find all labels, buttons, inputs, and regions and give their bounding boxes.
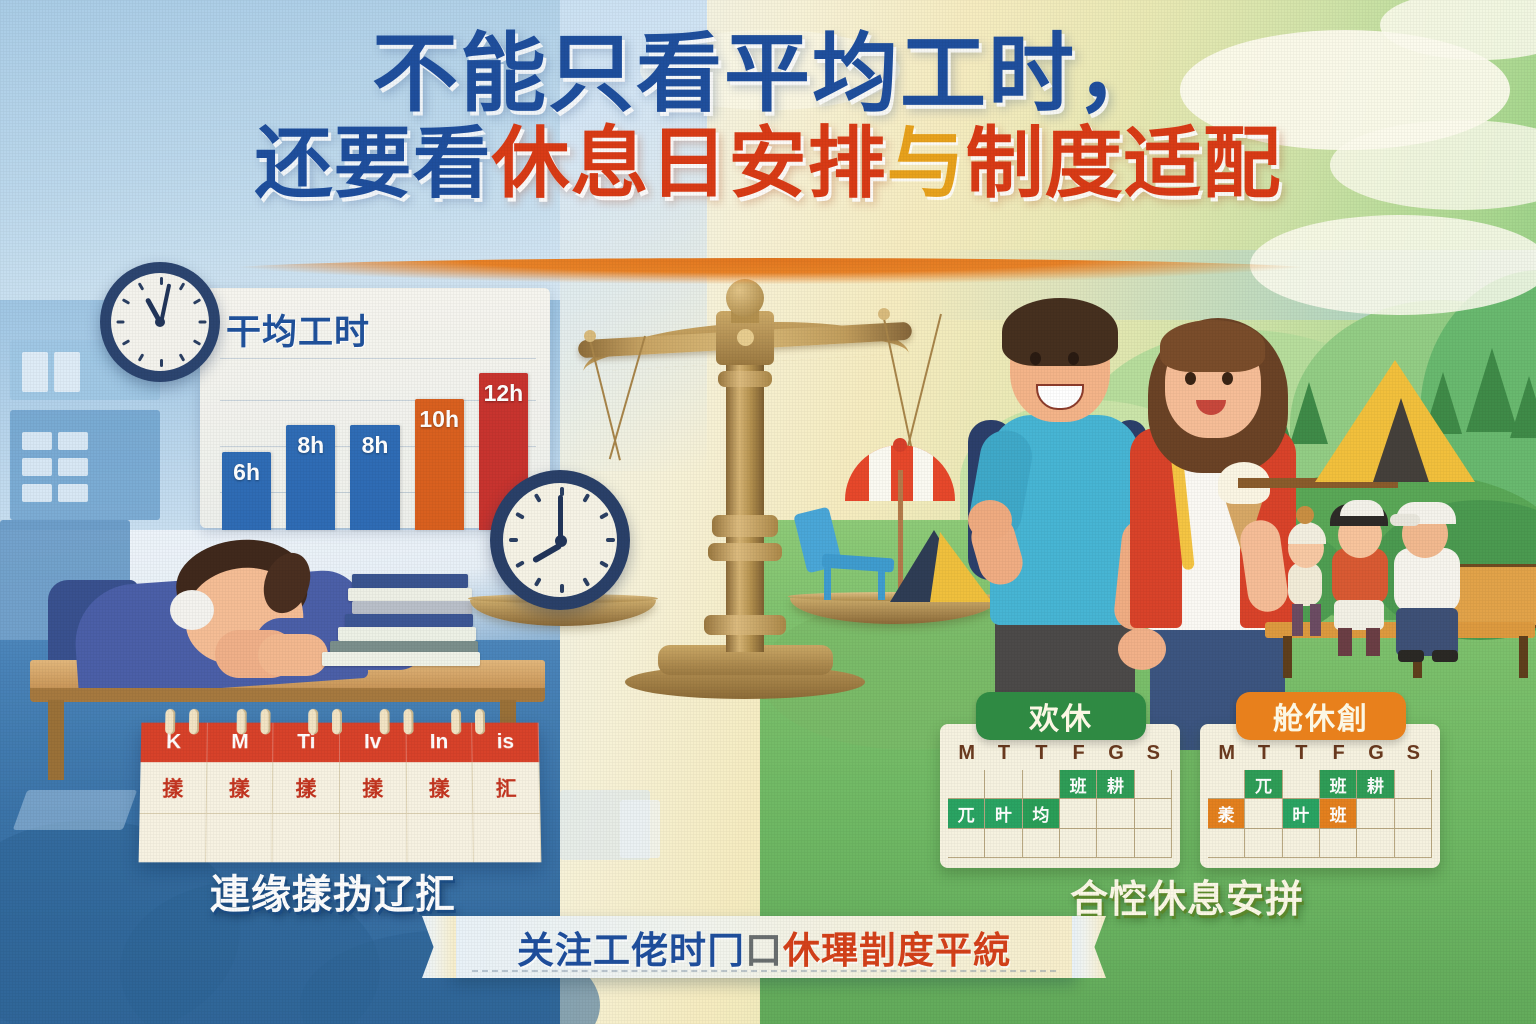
adult-shoe (1398, 650, 1424, 662)
desk-book (352, 601, 472, 614)
title-line2-red2: 制度适配 (966, 119, 1282, 207)
wall-clock (100, 262, 220, 382)
calendar-day-header: S (1135, 742, 1172, 765)
calendar-overtime-row: 㨾㨾㨾㨾㨾㧟 (140, 762, 541, 814)
man-eye (1030, 352, 1041, 365)
clock-tick (179, 282, 186, 290)
bottom-banner: 关注工佬时冂口休㻫剒度平綂 (452, 916, 1076, 978)
calendar-empty-cell (1395, 770, 1432, 799)
calendar-day-header: Ti (274, 723, 340, 763)
shelf-book (58, 432, 88, 450)
calendar-empty-cell (1320, 829, 1357, 858)
shelf-book (22, 352, 48, 392)
clock-tick (560, 584, 564, 593)
calendar-day-header: G (1357, 742, 1394, 765)
clock-tick (122, 339, 130, 346)
calendar-day-header: G (1097, 742, 1134, 765)
calendar-empty-cell (1097, 829, 1134, 858)
scale-finial (726, 279, 764, 317)
bottom-banner-text: 关注工佬时冂口休㻫剒度平綂 (452, 916, 1076, 978)
clock-center-pin (555, 535, 567, 547)
rest-schedule-calendar-1[interactable]: 欢休MTTFGS班耕兀旪均 (940, 698, 1180, 868)
child-shorts (1334, 600, 1384, 630)
calendar-empty-cell (948, 770, 985, 799)
clock-tick (606, 538, 615, 542)
calendar-empty-cell (1135, 799, 1172, 828)
title-line2-amber: 与 (887, 119, 966, 207)
calendar-rest-cell[interactable]: 旪 (1283, 799, 1320, 828)
adult-shoe (1432, 650, 1458, 662)
woman-hair-front (1160, 320, 1265, 372)
calendar-overtime-cell[interactable]: 㨾 (206, 762, 273, 814)
child-cap-crown (1340, 500, 1384, 516)
calendar-empty-cell (1023, 770, 1060, 799)
scale-hook (878, 308, 890, 320)
clock-tick (199, 321, 207, 324)
clock-tick (117, 321, 125, 324)
toddler-leg (1310, 604, 1321, 636)
clock-tick (534, 577, 542, 587)
calendar-overtime-cell[interactable]: 㧟 (473, 762, 541, 814)
clock-tick (515, 560, 525, 568)
calendar-empty-row (139, 814, 542, 862)
clock-tick (193, 298, 201, 305)
calendar-overtime-cell[interactable]: 㨾 (273, 762, 340, 814)
poster-title: 不能只看平均工时， 还要看休息日安排与制度适配 (0, 28, 1536, 207)
calendar-day-header: F (1060, 742, 1097, 765)
held-hands (1118, 628, 1166, 670)
title-line2-blue: 还要看 (254, 119, 491, 207)
calendar-empty-cell (1208, 770, 1245, 799)
chart-bar-label: 10h (415, 406, 464, 433)
calendar-empty-cell (1097, 799, 1134, 828)
rest-schedule-calendar-2[interactable]: 舱休創MTTFGS兀班耕羕旪班 (1200, 698, 1440, 868)
calendar-empty-cell (1135, 770, 1172, 799)
calendar-day-header: T (985, 742, 1022, 765)
shelf-book (58, 458, 88, 476)
woman-eye (1222, 372, 1233, 385)
chart-bars: 6h8h8h10h12h (222, 360, 528, 530)
clock-tick (122, 298, 130, 305)
scale-collar (712, 515, 778, 537)
calendar-tag-label: 欢休 (976, 692, 1146, 740)
chart-bar-label: 12h (479, 380, 528, 407)
calendar-rest-cell[interactable]: 耕 (1097, 770, 1134, 799)
clock-face (503, 483, 617, 597)
calendar-grid: 兀班耕羕旪班 (1208, 770, 1432, 858)
chart-gridline (220, 358, 536, 359)
shelf-book (22, 484, 52, 502)
man-fist (968, 500, 1012, 540)
calendar-tag-label: 舱休創 (1236, 692, 1406, 740)
chart-bar-label: 6h (222, 459, 271, 486)
clock-face (111, 273, 209, 371)
calendar-empty-cell (1245, 799, 1282, 828)
calendar-day-header: F (1320, 742, 1357, 765)
desk-book (345, 614, 473, 627)
banner-blue-part: 关注工佬时冂 (517, 920, 745, 974)
tired-worker-hand (258, 634, 328, 676)
adult-jeans (1396, 608, 1458, 656)
average-working-hours-chart: 干均工时 6h8h8h10h12h (210, 300, 540, 530)
scale-collar (718, 371, 772, 387)
scale-hook (584, 330, 596, 342)
calendar-empty-cell (1283, 770, 1320, 799)
clock-tick (160, 277, 163, 285)
calendar-empty-cell (1060, 799, 1097, 828)
chart-bar: 10h (415, 399, 464, 530)
left-caption: 連缘㨾㧑辽㧟 (210, 862, 456, 920)
toddler-leg (1292, 604, 1303, 636)
poster-canvas: 干均工时 6h8h8h10h12h (0, 0, 1536, 1024)
toddler-body (1288, 562, 1322, 606)
clock-tick (193, 339, 201, 346)
calendar-empty-cell (1135, 829, 1172, 858)
calendar-grid: 班耕兀旪均 (948, 770, 1172, 858)
calendar-rest-cell[interactable]: 均 (1023, 799, 1060, 828)
background-paper (620, 800, 660, 858)
title-underline-swoosh (210, 258, 1330, 284)
toddler-hair-bun (1296, 506, 1314, 524)
calendar-empty-cell (1060, 829, 1097, 858)
calendar-empty-cell (1283, 829, 1320, 858)
clock-tick (179, 353, 186, 361)
clock-tick (534, 493, 542, 503)
calendar-day-header: M (948, 742, 985, 765)
calendar-rest-cell[interactable]: 班 (1060, 770, 1097, 799)
title-line-2: 还要看休息日安排与制度适配 (0, 121, 1536, 207)
calendar-empty-cell (1357, 829, 1394, 858)
woman-eye (1185, 372, 1196, 385)
calendar-day-header: T (1283, 742, 1320, 765)
calendar-dow-row: MTTFGS (948, 742, 1172, 765)
scale-collar (704, 615, 786, 635)
desk-book (348, 588, 472, 601)
calendar-day-header: M (1208, 742, 1245, 765)
cloud (1250, 215, 1536, 315)
shelf-book (22, 432, 52, 450)
clock-tick (599, 560, 609, 568)
adult-cap-brim (1390, 514, 1420, 526)
chart-bar-label: 8h (350, 432, 399, 459)
chart-title: 干均工时 (226, 304, 370, 355)
desk-book (322, 652, 480, 666)
shelf-book (58, 484, 88, 502)
clock-tick (160, 359, 163, 367)
scale-collar (708, 543, 782, 561)
calendar-empty-cell (1357, 799, 1394, 828)
calendar-day-header: S (1395, 742, 1432, 765)
chart-bar: 8h (350, 425, 399, 530)
chart-bar-label: 8h (286, 432, 335, 459)
desk-book (338, 627, 476, 641)
chart-bar: 8h (286, 425, 335, 530)
calendar-rest-cell[interactable]: 羕 (1208, 799, 1245, 828)
calendar-dow-row: MTTFGS (1208, 742, 1432, 765)
pan-clock (490, 470, 630, 610)
man-hair (1002, 298, 1118, 366)
chart-bar: 6h (222, 452, 271, 530)
calendar-overtime-cell[interactable]: 㨾 (340, 762, 407, 814)
calendar-day-header: Iv (340, 723, 406, 763)
calendar-empty-cell (1395, 829, 1432, 858)
umbrella-top (893, 438, 907, 452)
banner-gray-part: 口 (745, 920, 783, 974)
calendar-rest-cell[interactable]: 旪 (985, 799, 1022, 828)
overtime-calendar[interactable]: KMTiIvInis 㨾㨾㨾㨾㨾㧟 (139, 723, 542, 863)
calendar-empty-cell (1023, 829, 1060, 858)
clock-tick (599, 512, 609, 520)
tired-worker-collar (170, 590, 214, 630)
pine-tree-icon (1510, 376, 1536, 438)
clock-center-pin (155, 317, 165, 327)
desk-leg (48, 700, 64, 780)
clock-tick (509, 538, 518, 542)
banner-dashed-rule (472, 970, 1056, 972)
calendar-day-header: In (406, 723, 473, 763)
calendar-day-header: T (1245, 742, 1282, 765)
banner-red-part: 休㻫剒度平綂 (783, 920, 1011, 974)
right-caption: 合悾休息安拼 (1070, 868, 1304, 923)
clock-tick (138, 282, 145, 290)
child-leg (1366, 628, 1380, 656)
calendar-empty-cell (985, 829, 1022, 858)
man-eye (1068, 352, 1079, 365)
calendar-empty-cell (1395, 799, 1432, 828)
title-line-1: 不能只看平均工时， (0, 28, 1536, 121)
calendar-rest-cell[interactable]: 耕 (1357, 770, 1394, 799)
shelf-book (54, 352, 80, 392)
clock-tick (138, 353, 145, 361)
calendar-day-header: T (1023, 742, 1060, 765)
calendar-rest-cell[interactable]: 班 (1320, 770, 1357, 799)
calendar-overtime-cell[interactable]: 㨾 (406, 762, 473, 814)
title-line2-red: 休息日安排 (491, 119, 886, 207)
tent-entrance (1373, 398, 1429, 482)
clock-tick (582, 577, 590, 587)
desk-edge (30, 688, 545, 702)
shelf-book (22, 458, 52, 476)
calendar-rest-cell[interactable]: 兀 (1245, 770, 1282, 799)
clock-tick (515, 512, 525, 520)
child-leg (1338, 628, 1352, 656)
clock-tick (582, 493, 590, 503)
calendar-overtime-cell[interactable]: 㨾 (140, 762, 208, 814)
calendar-empty-cell (948, 829, 985, 858)
desk-book (352, 574, 468, 588)
calendar-rest-cell[interactable]: 班 (1320, 799, 1357, 828)
calendar-empty-cell (1245, 829, 1282, 858)
calendar-rest-cell[interactable]: 兀 (948, 799, 985, 828)
calendar-empty-cell (985, 770, 1022, 799)
calendar-empty-cell (1208, 829, 1245, 858)
background-book (13, 790, 138, 830)
deck-chair-icon (800, 528, 886, 580)
